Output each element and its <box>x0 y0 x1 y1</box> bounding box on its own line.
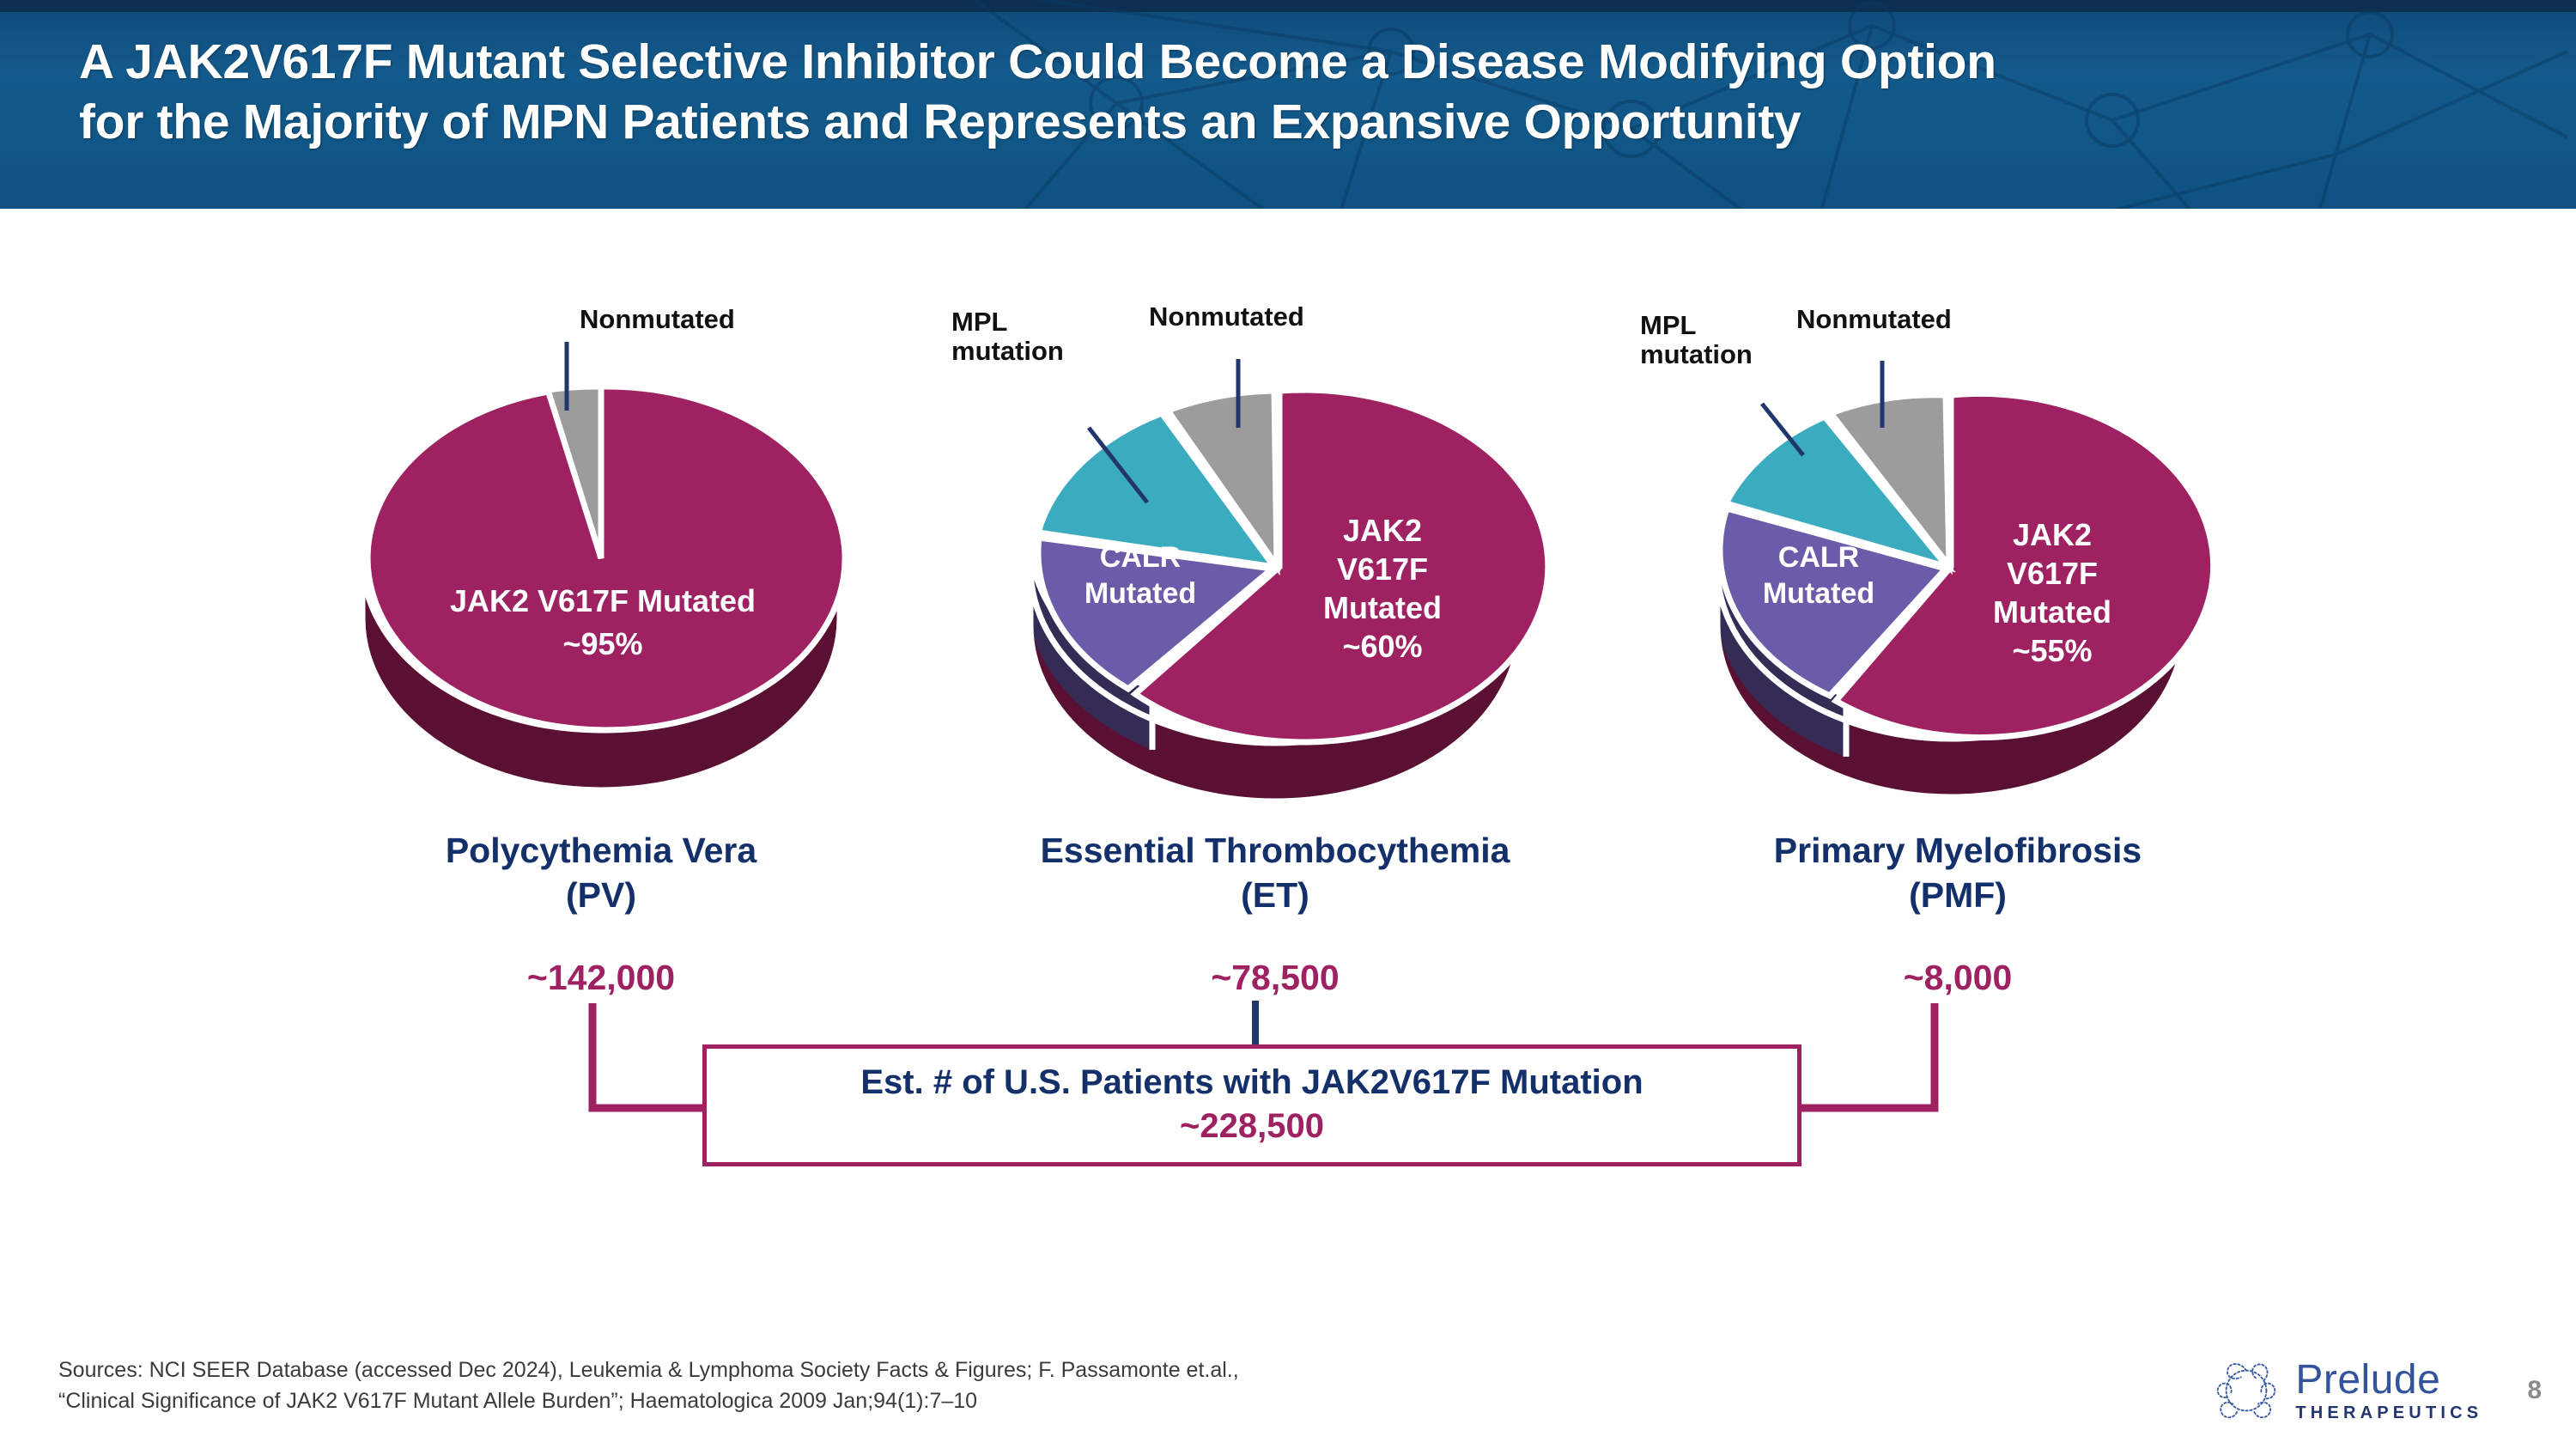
pie-chart-et: CALR Mutated JAK2 V617F Mutated ~60% MPL… <box>936 283 1614 842</box>
pie-inner-label-pmf-line4: ~55% <box>2012 633 2092 668</box>
disease-title-pv: Polycythemia Vera (PV) <box>283 829 919 917</box>
pie-inner-label-pv-line1: JAK2 V617F Mutated <box>450 583 756 618</box>
callout-nonmutated-et: Nonmutated <box>1149 302 1304 332</box>
brand-name: Prelude <box>2295 1360 2482 1401</box>
pie-inner-label-pmf-line3: Mutated <box>1993 594 2111 630</box>
pie-inner-label-pmf-line1: JAK2 <box>2013 517 2092 552</box>
pie-chart-pmf: CALR Mutated JAK2 V617F Mutated ~55% MPL… <box>1631 283 2284 842</box>
callout-mpl-mutation-et: MPL mutation <box>951 307 1064 366</box>
pie-inner-label-et-line4: ~60% <box>1342 629 1422 664</box>
pie-inner-label-pmf-line2: V617F <box>2007 556 2098 591</box>
chart-card-pv: JAK2 V617F Mutated ~95% Nonmutated Polyc… <box>283 283 919 842</box>
summary-callout-box: Est. # of U.S. Patients with JAK2V617F M… <box>702 1044 1801 1166</box>
pie-inner-label-et-line2: V617F <box>1337 551 1428 587</box>
pie-chart-pv-svg: JAK2 V617F Mutated ~95% <box>283 283 919 799</box>
pie-inner-label-et-line1: JAK2 <box>1343 513 1422 548</box>
brand-logo: Prelude THERAPEUTICS 8 <box>2213 1357 2542 1424</box>
page-number: 8 <box>2527 1376 2542 1405</box>
callout-nonmutated-pv: Nonmutated <box>580 305 735 334</box>
slide-header: A JAK2V617F Mutant Selective Inhibitor C… <box>0 0 2576 209</box>
patient-count-pmf: ~8,000 <box>1631 958 2284 998</box>
patient-count-pv: ~142,000 <box>283 958 919 998</box>
brand-logo-text: Prelude THERAPEUTICS <box>2295 1360 2482 1422</box>
pie-chart-pv: JAK2 V617F Mutated ~95% Nonmutated <box>283 283 919 842</box>
chart-card-et: CALR Mutated JAK2 V617F Mutated ~60% MPL… <box>936 283 1614 842</box>
pie-inner-label-et-line3: Mutated <box>1323 590 1442 625</box>
summary-value: ~228,500 <box>1180 1105 1324 1148</box>
chart-card-pmf: CALR Mutated JAK2 V617F Mutated ~55% MPL… <box>1631 283 2284 842</box>
page-title: A JAK2V617F Mutant Selective Inhibitor C… <box>79 33 2397 152</box>
sources-note: Sources: NCI SEER Database (accessed Dec… <box>58 1355 1690 1416</box>
patient-count-et: ~78,500 <box>936 958 1614 998</box>
pie-inner-label-calr-pmf-line1: CALR <box>1778 541 1859 574</box>
pie-inner-label-pv-line2: ~95% <box>562 626 642 661</box>
pie-inner-label-calr-pmf-line2: Mutated <box>1763 577 1874 610</box>
pie-slice-jak2-pv <box>368 387 845 730</box>
prelude-flower-icon <box>2213 1357 2280 1424</box>
callout-mpl-mutation-pmf: MPL mutation <box>1640 311 1753 369</box>
disease-title-pmf: Primary Myelofibrosis (PMF) <box>1631 829 2284 917</box>
callout-nonmutated-pmf: Nonmutated <box>1796 305 1952 334</box>
pie-inner-label-calr-et-line2: Mutated <box>1084 577 1196 610</box>
brand-tagline: THERAPEUTICS <box>2295 1404 2482 1422</box>
summary-title: Est. # of U.S. Patients with JAK2V617F M… <box>860 1063 1643 1102</box>
disease-title-et: Essential Thrombocythemia (ET) <box>936 829 1614 917</box>
pie-inner-label-calr-et-line1: CALR <box>1100 541 1181 574</box>
